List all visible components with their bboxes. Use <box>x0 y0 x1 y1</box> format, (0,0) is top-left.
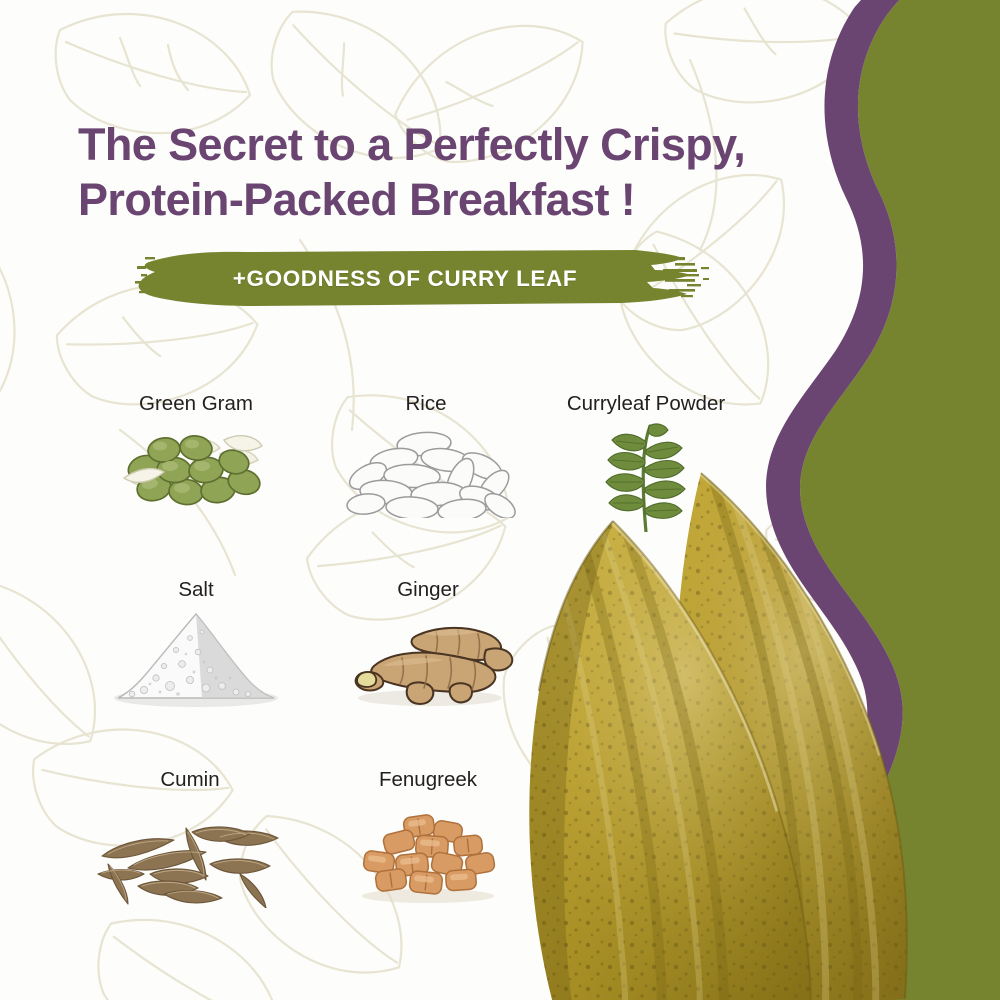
rice-icon <box>328 422 524 518</box>
salt-icon <box>98 608 294 708</box>
fenugreek-icon <box>330 798 526 908</box>
ingredient-rice: Rice <box>328 392 524 512</box>
ingredient-label: Salt <box>98 578 294 602</box>
green-gram-icon <box>80 422 312 518</box>
badge-label: +GOODNESS OF CURRY LEAF <box>135 248 675 310</box>
ginger-icon <box>330 608 526 708</box>
ingredient-label: Curryleaf Powder <box>548 392 744 416</box>
promo-banner-canvas: The Secret to a Perfectly Crispy, Protei… <box>0 0 1000 1000</box>
curry-leaf-badge: +GOODNESS OF CURRY LEAF <box>135 248 715 310</box>
ingredient-fenugreek: Fenugreek <box>330 768 526 898</box>
ingredient-curryleaf-powder: Curryleaf Powder <box>548 392 744 532</box>
ingredient-label: Ginger <box>330 578 526 602</box>
ingredient-label: Rice <box>328 392 524 416</box>
curryleaf-icon <box>548 422 744 532</box>
cumin-icon <box>92 798 288 908</box>
ingredient-label: Cumin <box>92 768 288 792</box>
ingredient-ginger: Ginger <box>330 578 526 698</box>
ingredient-cumin: Cumin <box>92 768 288 898</box>
headline-line-2: Protein-Packed Breakfast ! <box>78 173 838 228</box>
ingredient-salt: Salt <box>98 578 294 698</box>
ingredient-green-gram: Green Gram <box>80 392 312 512</box>
headline-line-1: The Secret to a Perfectly Crispy, <box>78 118 838 173</box>
ingredient-label: Fenugreek <box>330 768 526 792</box>
page-title: The Secret to a Perfectly Crispy, Protei… <box>78 118 838 228</box>
ingredient-label: Green Gram <box>80 392 312 416</box>
